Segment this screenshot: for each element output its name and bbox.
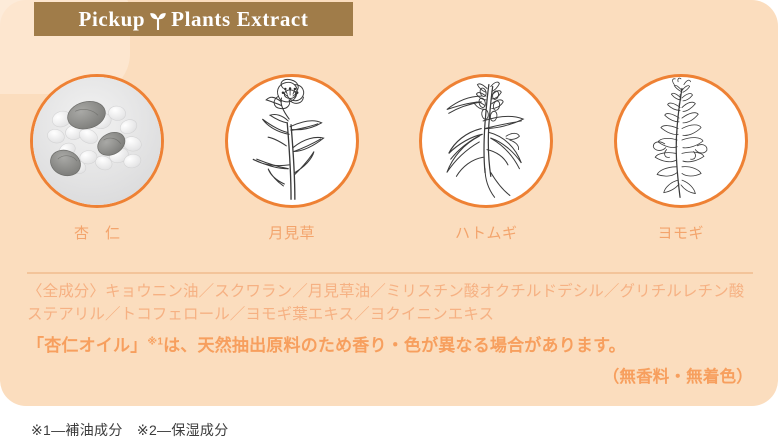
apricot-kernel-photo [30,74,164,208]
ingredient-circle-row: 杏 仁 [0,74,778,249]
section-banner: Pickup Plants Extract [34,2,353,36]
page-root: Pickup Plants Extract [0,0,778,448]
notice-footnote-marker: ※1 [147,336,163,347]
banner-text-left: Pickup [79,9,146,30]
ingredients-text: 〈全成分〉キョウニン油／スクワラン／月見草油／ミリスチン酸オクチルドデシル／グリ… [27,280,753,327]
ingredient-label: ハトムギ [455,222,517,243]
evening-primrose-drawing [225,74,359,208]
ingredient-item-apricot-kernel: 杏 仁 [10,74,185,243]
product-notice: 「杏仁オイル」※1は、天然抽出原料のため香り・色が異なる場合があります。 [27,331,753,356]
mugwort-drawing [614,74,748,208]
ingredient-label: 月見草 [268,222,315,243]
banner-text-right: Plants Extract [171,9,308,30]
notice-prefix: 「杏仁オイル」 [27,336,147,355]
free-of-note: （無香料・無着色） [27,363,753,387]
ingredient-label: 杏 仁 [74,222,121,243]
notice-suffix: は、天然抽出原料のため香り・色が異なる場合があります。 [163,336,626,355]
footnotes: ※1—補油成分 ※2—保湿成分 [31,420,229,440]
jobs-tears-drawing [419,74,553,208]
ingredient-item-jobs-tears: ハトムギ [399,74,574,243]
ingredient-item-mugwort: ヨモギ [593,74,768,243]
section-divider [27,272,753,274]
ingredient-item-evening-primrose: 月見草 [204,74,379,243]
ingredient-label: ヨモギ [657,222,704,243]
sprout-icon [148,9,168,30]
